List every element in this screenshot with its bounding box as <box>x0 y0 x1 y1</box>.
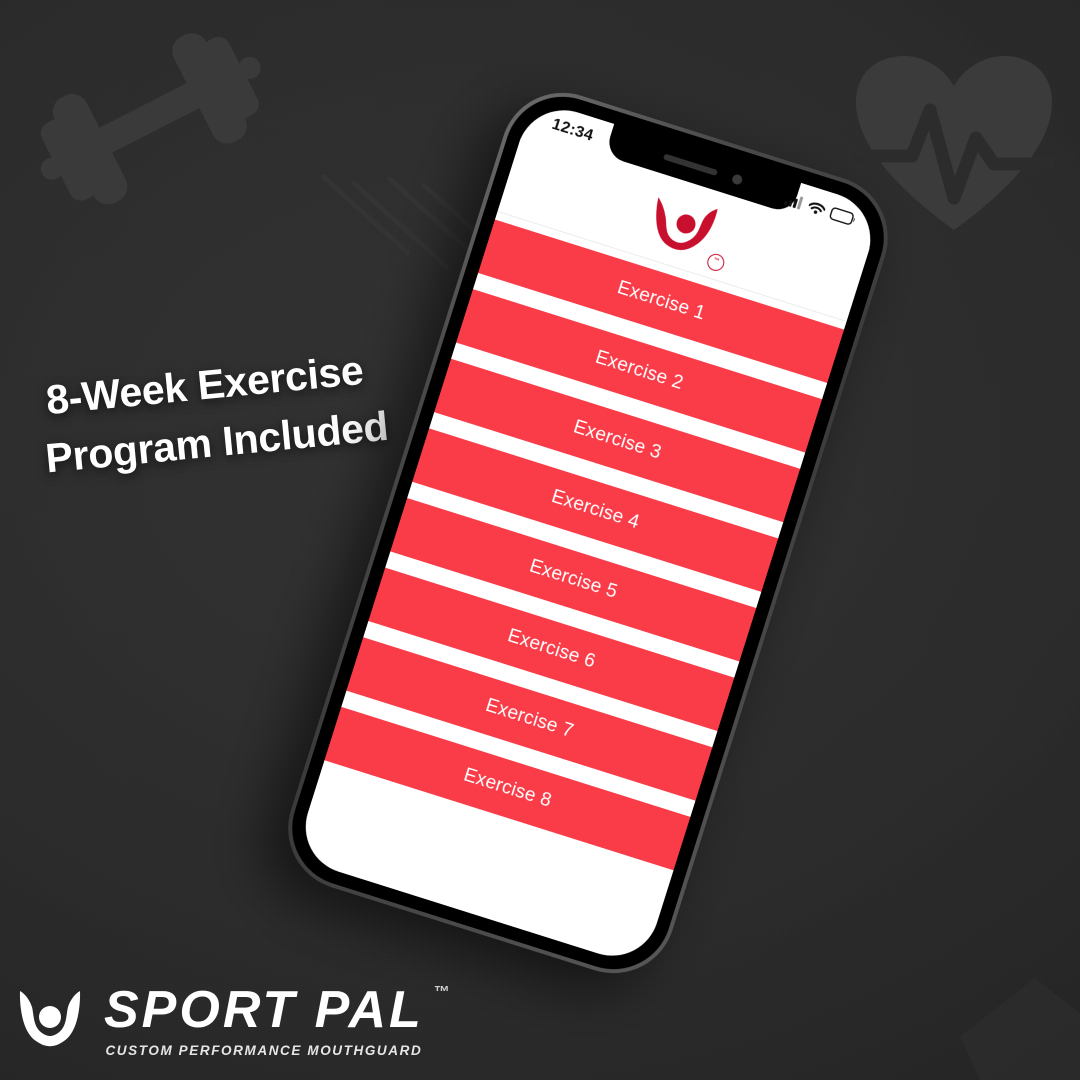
brand-tagline: CUSTOM PERFORMANCE MOUTHGUARD <box>104 1043 424 1058</box>
sportpal-u-mark-icon <box>14 985 86 1055</box>
brand-trademark: ™ <box>434 984 450 1002</box>
exercise-row-label: Exercise 1 <box>615 277 708 325</box>
battery-icon <box>829 206 858 226</box>
exercise-row-label: Exercise 3 <box>571 416 664 464</box>
exercise-row-label: Exercise 8 <box>461 764 554 812</box>
cellular-signal-icon <box>784 192 805 210</box>
promo-graphic: 8-Week Exercise Program Included SPORT P… <box>0 0 1080 1080</box>
exercise-row-label: Exercise 6 <box>505 625 598 673</box>
exercise-row-label: Exercise 2 <box>593 347 686 395</box>
exercise-row-label: Exercise 7 <box>483 695 576 743</box>
exercise-row-label: Exercise 5 <box>527 556 620 604</box>
sportpal-u-mark-icon: ™ <box>639 186 731 267</box>
status-clock: 12:34 <box>550 116 596 146</box>
brand-lockup: SPORT PAL ™ CUSTOM PERFORMANCE MOUTHGUAR… <box>14 982 424 1058</box>
brand-text: SPORT PAL ™ CUSTOM PERFORMANCE MOUTHGUAR… <box>104 982 424 1058</box>
exercise-row-label: Exercise 4 <box>549 486 642 534</box>
wifi-icon <box>807 199 827 217</box>
brand-name: SPORT PAL <box>104 984 424 1036</box>
